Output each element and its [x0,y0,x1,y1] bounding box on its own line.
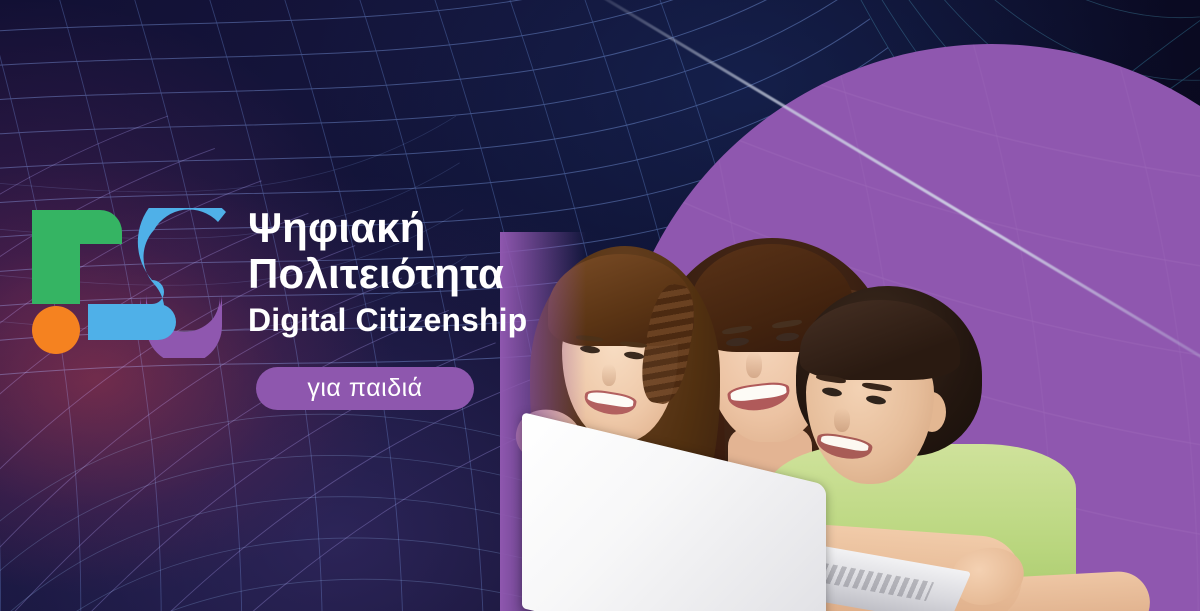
audience-badge: για παιδιά [256,367,474,410]
audience-badge-label: για παιδιά [307,374,422,403]
mother-nose [746,352,762,378]
brand-title-greek-line1: Ψηφιακή [248,206,668,250]
brand-title-greek-line2: Πολιτειότητα [248,252,668,296]
boy-nose [834,408,850,432]
girl-nose [602,364,616,386]
brand-text-block: Ψηφιακή Πολιτειότητα Digital Citizenship [248,206,668,338]
brand-title-english: Digital Citizenship [248,302,668,338]
hero-banner: Ψηφιακή Πολιτειότητα Digital Citizenship… [0,0,1200,611]
logo-mark-icon [22,208,226,358]
